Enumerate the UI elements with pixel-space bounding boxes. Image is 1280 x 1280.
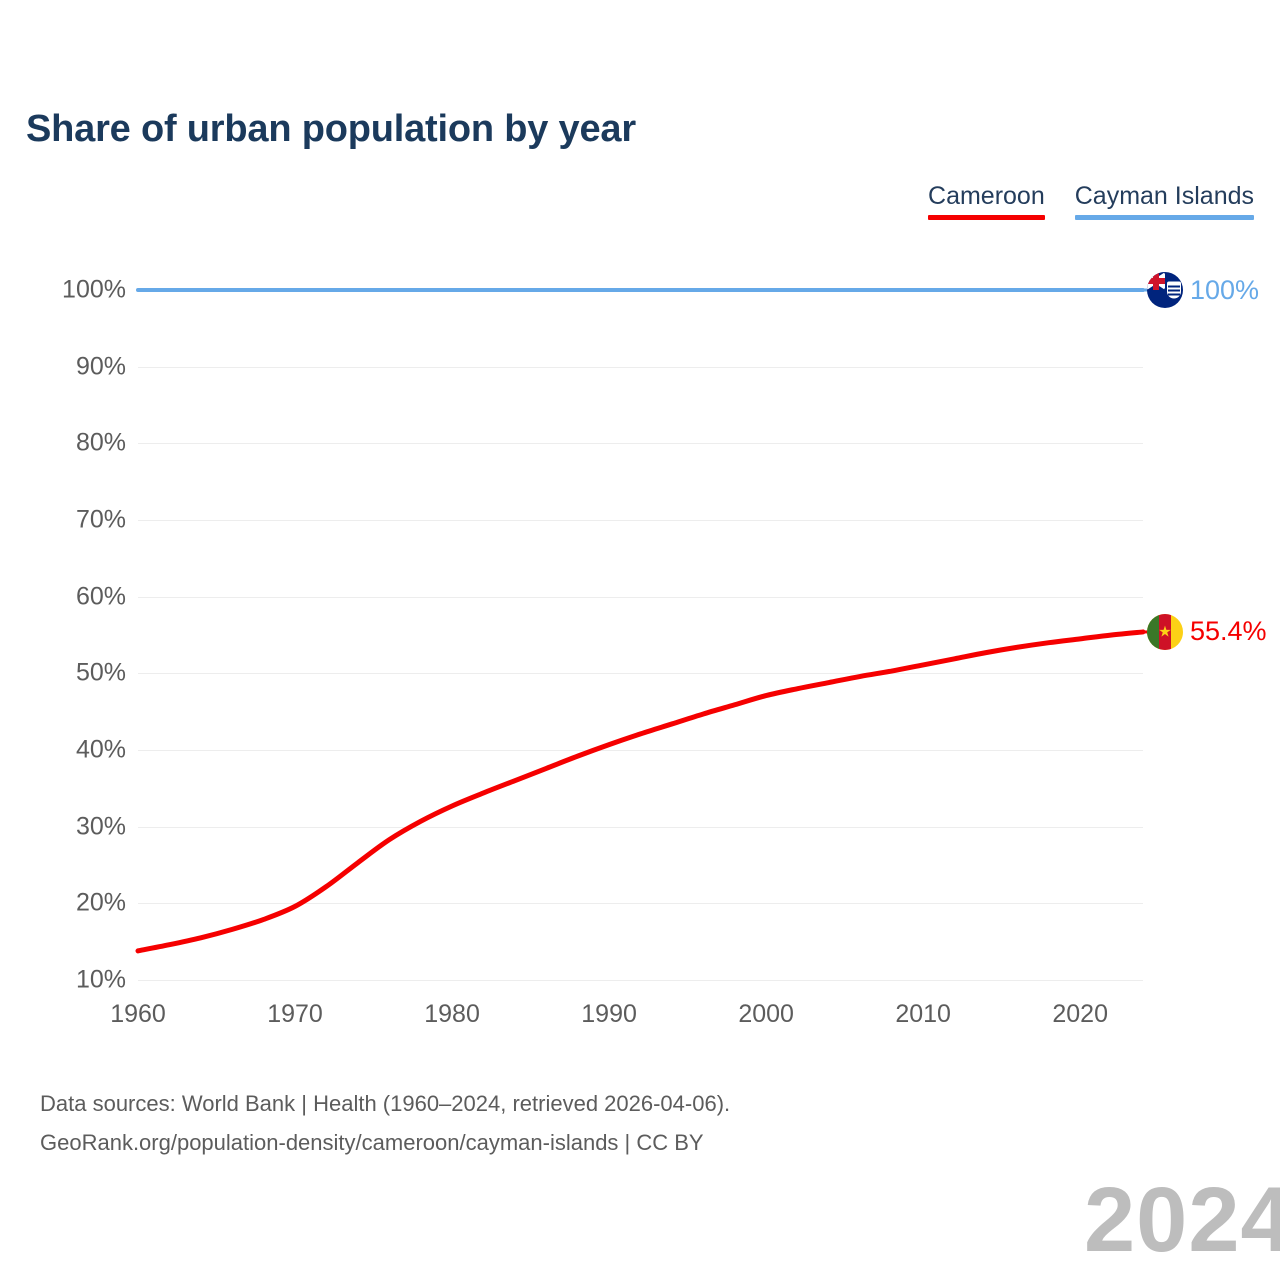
line-cameroon xyxy=(138,632,1143,951)
endpoint-marker-cayman-islands[interactable]: 100% xyxy=(1147,272,1259,308)
endpoint-value-label: 55.4% xyxy=(1190,618,1267,645)
footer-url-license: GeoRank.org/population-density/cameroon/… xyxy=(40,1124,730,1163)
star-icon: ★ xyxy=(1158,624,1171,639)
cameroon-flag-icon: ★ xyxy=(1147,614,1183,650)
coat-of-arms xyxy=(1167,282,1181,299)
endpoint-marker-cameroon[interactable]: ★ 55.4% xyxy=(1147,614,1267,650)
footer-data-sources: Data sources: World Bank | Health (1960–… xyxy=(40,1085,730,1124)
cayman-islands-flag-icon xyxy=(1147,272,1183,308)
union-jack-canton xyxy=(1147,272,1165,290)
chart-container: Share of urban population by year Camero… xyxy=(0,0,1280,1280)
footer-attribution: Data sources: World Bank | Health (1960–… xyxy=(40,1085,730,1162)
endpoint-value-label: 100% xyxy=(1190,277,1259,304)
